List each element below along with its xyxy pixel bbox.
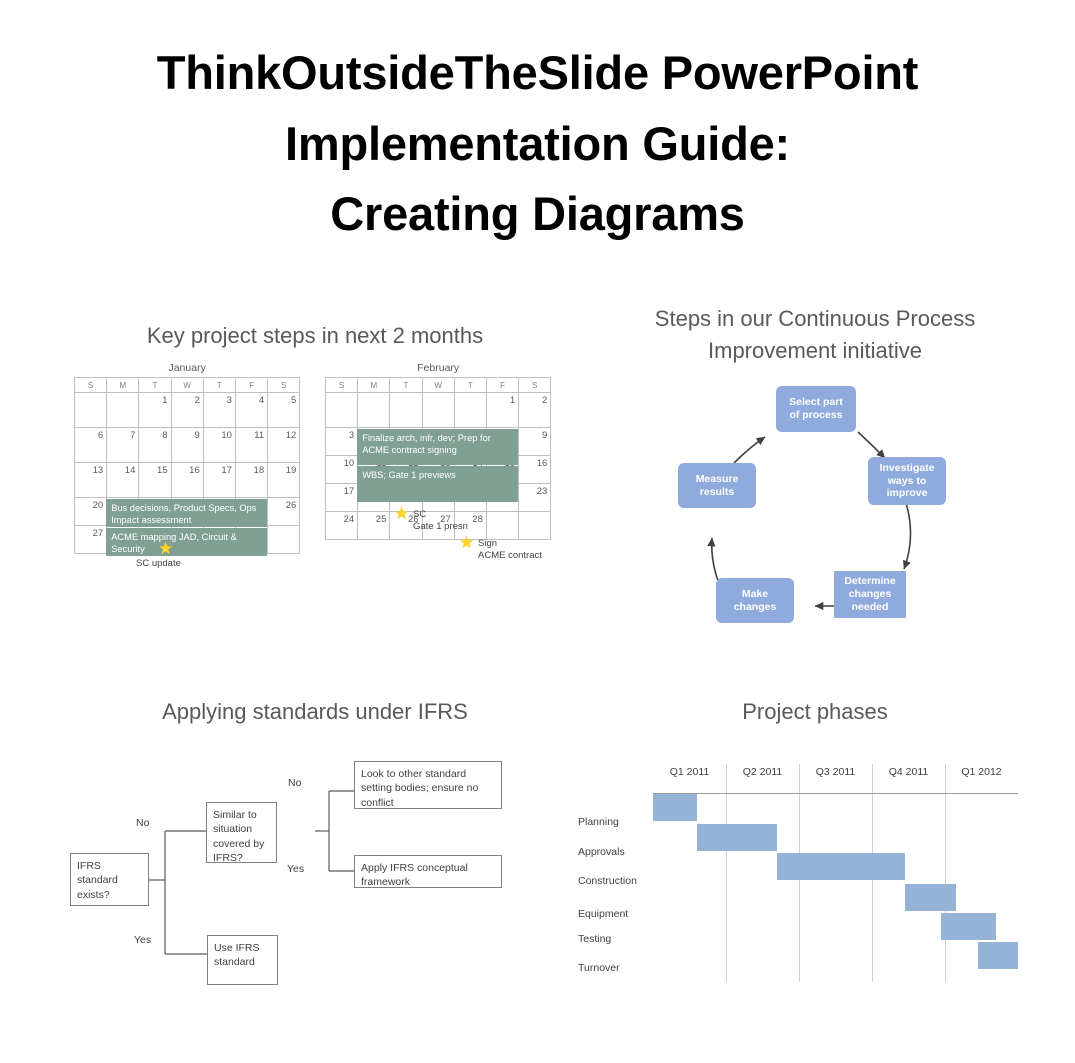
weekday-header: T [454,378,486,393]
february-calendar: February S M T W T F S 1 2 [325,362,551,540]
weekday-header: T [203,378,235,393]
cycle-panel-heading: Steps in our Continuous Process Improvem… [610,303,1020,367]
gantt-bar-turnover[interactable] [978,942,1018,969]
calendar-day-cell[interactable]: 11 [235,428,267,463]
gantt-quarter-label: Q1 2011 [653,766,726,778]
continuous-improvement-cycle-diagram: Select part of process Investigate ways … [610,375,1020,645]
cycle-arrow-5 [734,437,765,463]
gantt-gridline [726,764,727,982]
star-icon: ★ [394,505,409,522]
weekday-header: M [107,378,139,393]
calendar-day-cell[interactable]: 17 [326,484,358,512]
calendar-day-cell[interactable]: 8 [139,428,171,463]
calendar-day-cell[interactable] [390,393,422,428]
calendar-day-cell[interactable] [358,393,390,428]
calendar-event-bar[interactable]: WBS; Gate 1 previews [357,466,518,502]
weekday-header: S [519,378,551,393]
gantt-bar-approvals[interactable] [697,824,777,851]
calendar-day-cell[interactable]: 16 [519,456,551,484]
gantt-row-label-construction: Construction [578,875,637,887]
gantt-row-label-equipment: Equipment [578,908,628,920]
weekday-header: F [486,378,518,393]
ifrs-node-apply-framework[interactable]: Apply IFRS conceptual framework [354,855,502,888]
calendar-week-row: 6 7 8 9 10 11 12 [75,428,300,463]
ifrs-edge-label-similar-no: No [288,777,301,789]
month-name-january: January [74,362,300,374]
calendar-day-cell[interactable]: 12 [268,428,300,463]
ifrs-node-other-bodies[interactable]: Look to other standard setting bodies; e… [354,761,502,809]
gantt-axis-line [653,793,1018,794]
calendar-day-cell[interactable]: 25 [358,512,390,540]
gantt-quarter-label: Q2 2011 [726,766,799,778]
calendar-week-row: 1 2 [326,393,551,428]
calendar-weekday-row: S M T W T F S [75,378,300,393]
ifrs-edge-label-similar-yes: Yes [287,863,304,875]
page-title: ThinkOutsideTheSlide PowerPoint Implemen… [0,38,1075,250]
calendar-note: SC update [136,558,181,570]
calendar-day-cell[interactable]: 23 [519,484,551,512]
calendar-day-cell[interactable]: 7 [107,428,139,463]
calendar-day-cell[interactable]: 13 [75,463,107,498]
calendar-day-cell[interactable] [422,393,454,428]
ifrs-node-root[interactable]: IFRS standard exists? [70,853,149,906]
calendar-day-cell[interactable] [519,512,551,540]
month-name-february: February [325,362,551,374]
calendar-note: Sign ACME contract [478,538,542,561]
gantt-quarter-label: Q4 2011 [872,766,945,778]
ifrs-panel-heading: Applying standards under IFRS [40,696,590,728]
calendar-day-cell[interactable]: 10 [326,456,358,484]
calendar-day-cell[interactable] [107,393,139,428]
gantt-panel-heading: Project phases [610,696,1020,728]
calendar-day-cell[interactable]: 2 [519,393,551,428]
gantt-row-label-turnover: Turnover [578,962,620,974]
weekday-header: S [75,378,107,393]
calendar-day-cell[interactable]: 26 [268,498,300,526]
star-icon: ★ [459,534,474,551]
calendar-day-cell[interactable]: 9 [519,428,551,456]
calendar-day-cell[interactable]: 9 [171,428,203,463]
weekday-header: T [390,378,422,393]
cycle-step-make-changes[interactable]: Make changes [716,578,794,623]
cycle-step-select-part[interactable]: Select part of process [776,386,856,432]
cycle-arrow-1 [858,432,885,458]
calendar-day-cell[interactable]: 6 [75,428,107,463]
calendar-day-cell[interactable]: 14 [107,463,139,498]
weekday-header: S [268,378,300,393]
calendar-day-cell[interactable]: 18 [235,463,267,498]
gantt-quarter-label: Q3 2011 [799,766,872,778]
weekday-header: T [139,378,171,393]
calendar-day-cell[interactable]: 5 [268,393,300,428]
calendar-event-bar[interactable]: ACME mapping JAD, Circuit & Security [106,528,267,556]
gantt-bar-testing[interactable] [941,913,996,940]
weekday-header: W [171,378,203,393]
calendar-note: SC Gate 1 presn [413,509,468,532]
calendar-day-cell[interactable] [486,512,518,540]
calendar-day-cell[interactable]: 16 [171,463,203,498]
gantt-quarter-label: Q1 2012 [945,766,1018,778]
weekday-header: F [235,378,267,393]
calendar-panel-heading: Key project steps in next 2 months [40,320,590,352]
gantt-bar-planning[interactable] [653,794,697,821]
calendar-day-cell[interactable]: 27 [75,526,107,554]
calendar-week-row: 1 2 3 4 5 [75,393,300,428]
january-calendar: January S M T W T F S 1 2 3 4 5 [74,362,300,554]
gantt-row-label-testing: Testing [578,933,611,945]
calendar-day-cell[interactable]: 3 [326,428,358,456]
weekday-header: W [422,378,454,393]
calendar-day-cell[interactable]: 20 [75,498,107,526]
calendar-event-bar[interactable]: Finalize arch, infr, dev; Prep for ACME … [357,429,518,465]
calendar-week-row: 13 14 15 16 17 18 19 [75,463,300,498]
calendar-day-cell[interactable] [75,393,107,428]
gantt-bar-equipment[interactable] [905,884,956,911]
gantt-row-label-planning: Planning [578,816,619,828]
cycle-step-measure-results[interactable]: Measure results [678,463,756,508]
project-phases-gantt-chart: Q1 2011 Q2 2011 Q3 2011 Q4 2011 Q1 2012 … [560,760,1040,1010]
calendar-day-cell[interactable]: 10 [203,428,235,463]
ifrs-edge-label-root-no: No [136,817,149,829]
calendar-event-bar[interactable]: Bus decisions, Product Specs, Ops Impact… [106,499,267,527]
calendar-day-cell[interactable]: 1 [486,393,518,428]
gantt-row-label-approvals: Approvals [578,846,625,858]
calendar-day-cell[interactable]: 1 [139,393,171,428]
calendar-day-cell[interactable] [268,526,300,554]
calendar-day-cell[interactable]: 19 [268,463,300,498]
ifrs-node-use-ifrs[interactable]: Use IFRS standard [207,935,278,985]
calendar-day-cell[interactable]: 24 [326,512,358,540]
gantt-gridline [945,764,946,982]
calendar-day-cell[interactable]: 3 [203,393,235,428]
calendar-day-cell[interactable] [454,393,486,428]
calendar-day-cell[interactable]: 17 [203,463,235,498]
gantt-bar-construction[interactable] [777,853,905,880]
cycle-arrow-2 [904,503,911,569]
ifrs-decision-tree: IFRS standard exists? Similar to situati… [40,740,600,1010]
weekday-header: M [358,378,390,393]
star-icon: ★ [158,540,173,557]
weekday-header: S [326,378,358,393]
cycle-step-investigate[interactable]: Investigate ways to improve [868,457,946,505]
ifrs-edge-label-root-yes: Yes [134,934,151,946]
calendar-day-cell[interactable]: 2 [171,393,203,428]
cycle-step-determine[interactable]: Determine changes needed [834,571,906,618]
calendar-weekday-row: S M T W T F S [326,378,551,393]
calendar-day-cell[interactable]: 4 [235,393,267,428]
calendar-day-cell[interactable]: 15 [139,463,171,498]
calendar-day-cell[interactable] [326,393,358,428]
ifrs-node-similar[interactable]: Similar to situation covered by IFRS? [206,802,277,863]
